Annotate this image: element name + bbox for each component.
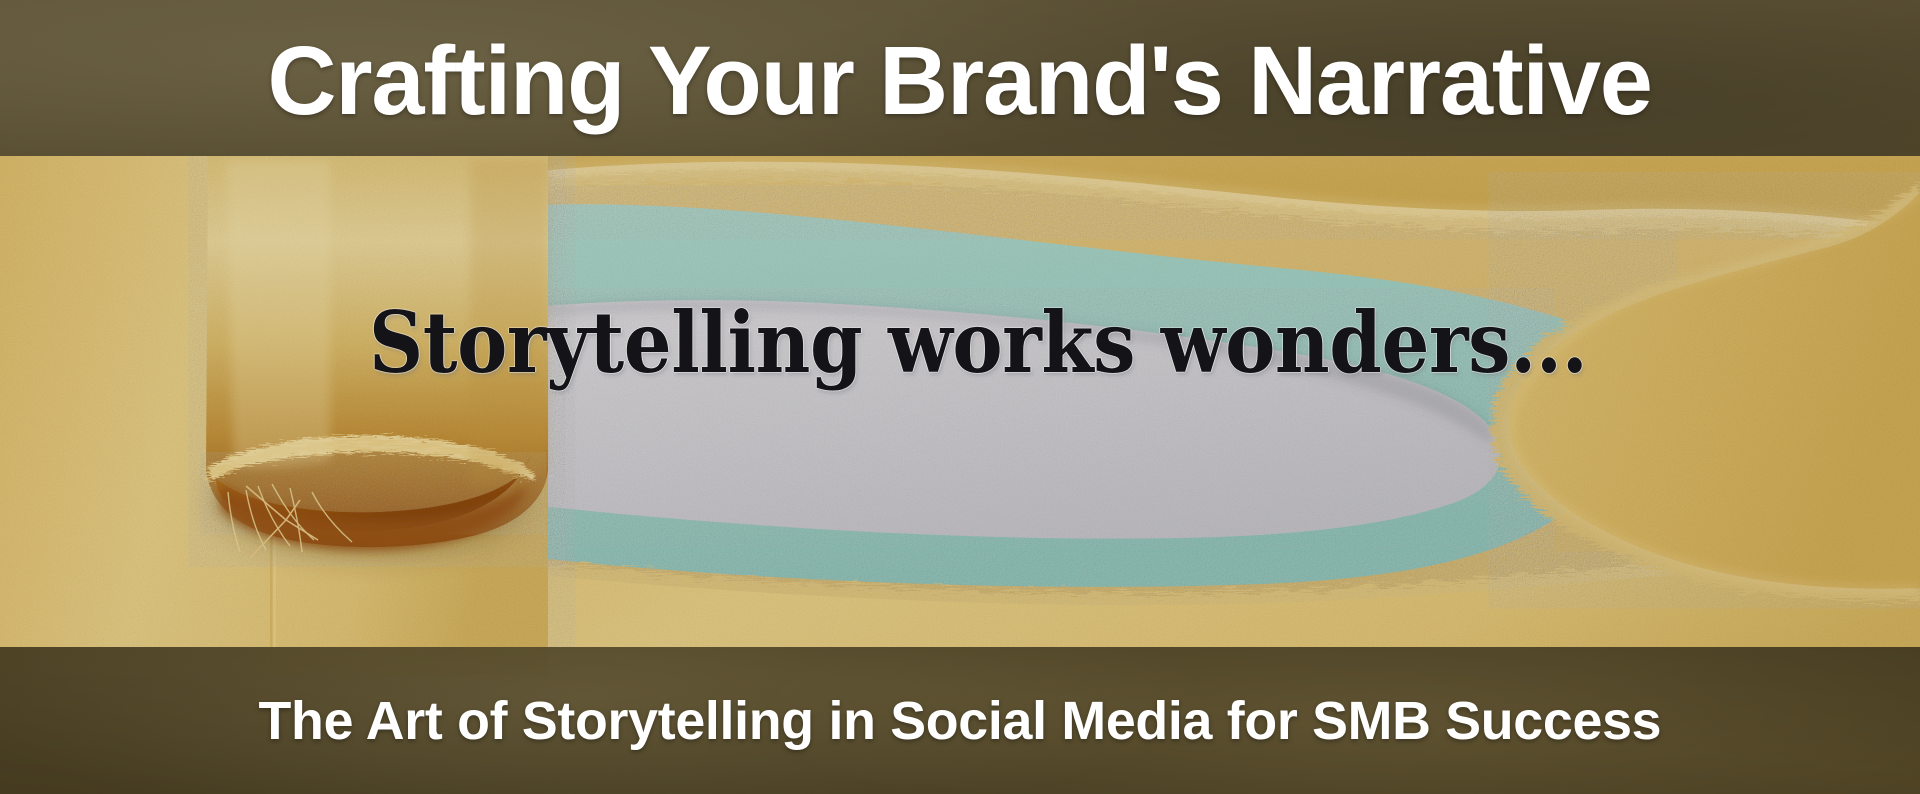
page-subtitle: The Art of Storytelling in Social Media …	[259, 694, 1662, 748]
title-band: Crafting Your Brand's Narrative	[0, 0, 1920, 156]
page-title: Crafting Your Brand's Narrative	[268, 32, 1652, 129]
subtitle-band: The Art of Storytelling in Social Media …	[0, 647, 1920, 794]
brand-narrative-banner: Storytelling works wonders... Crafting Y…	[0, 0, 1920, 794]
